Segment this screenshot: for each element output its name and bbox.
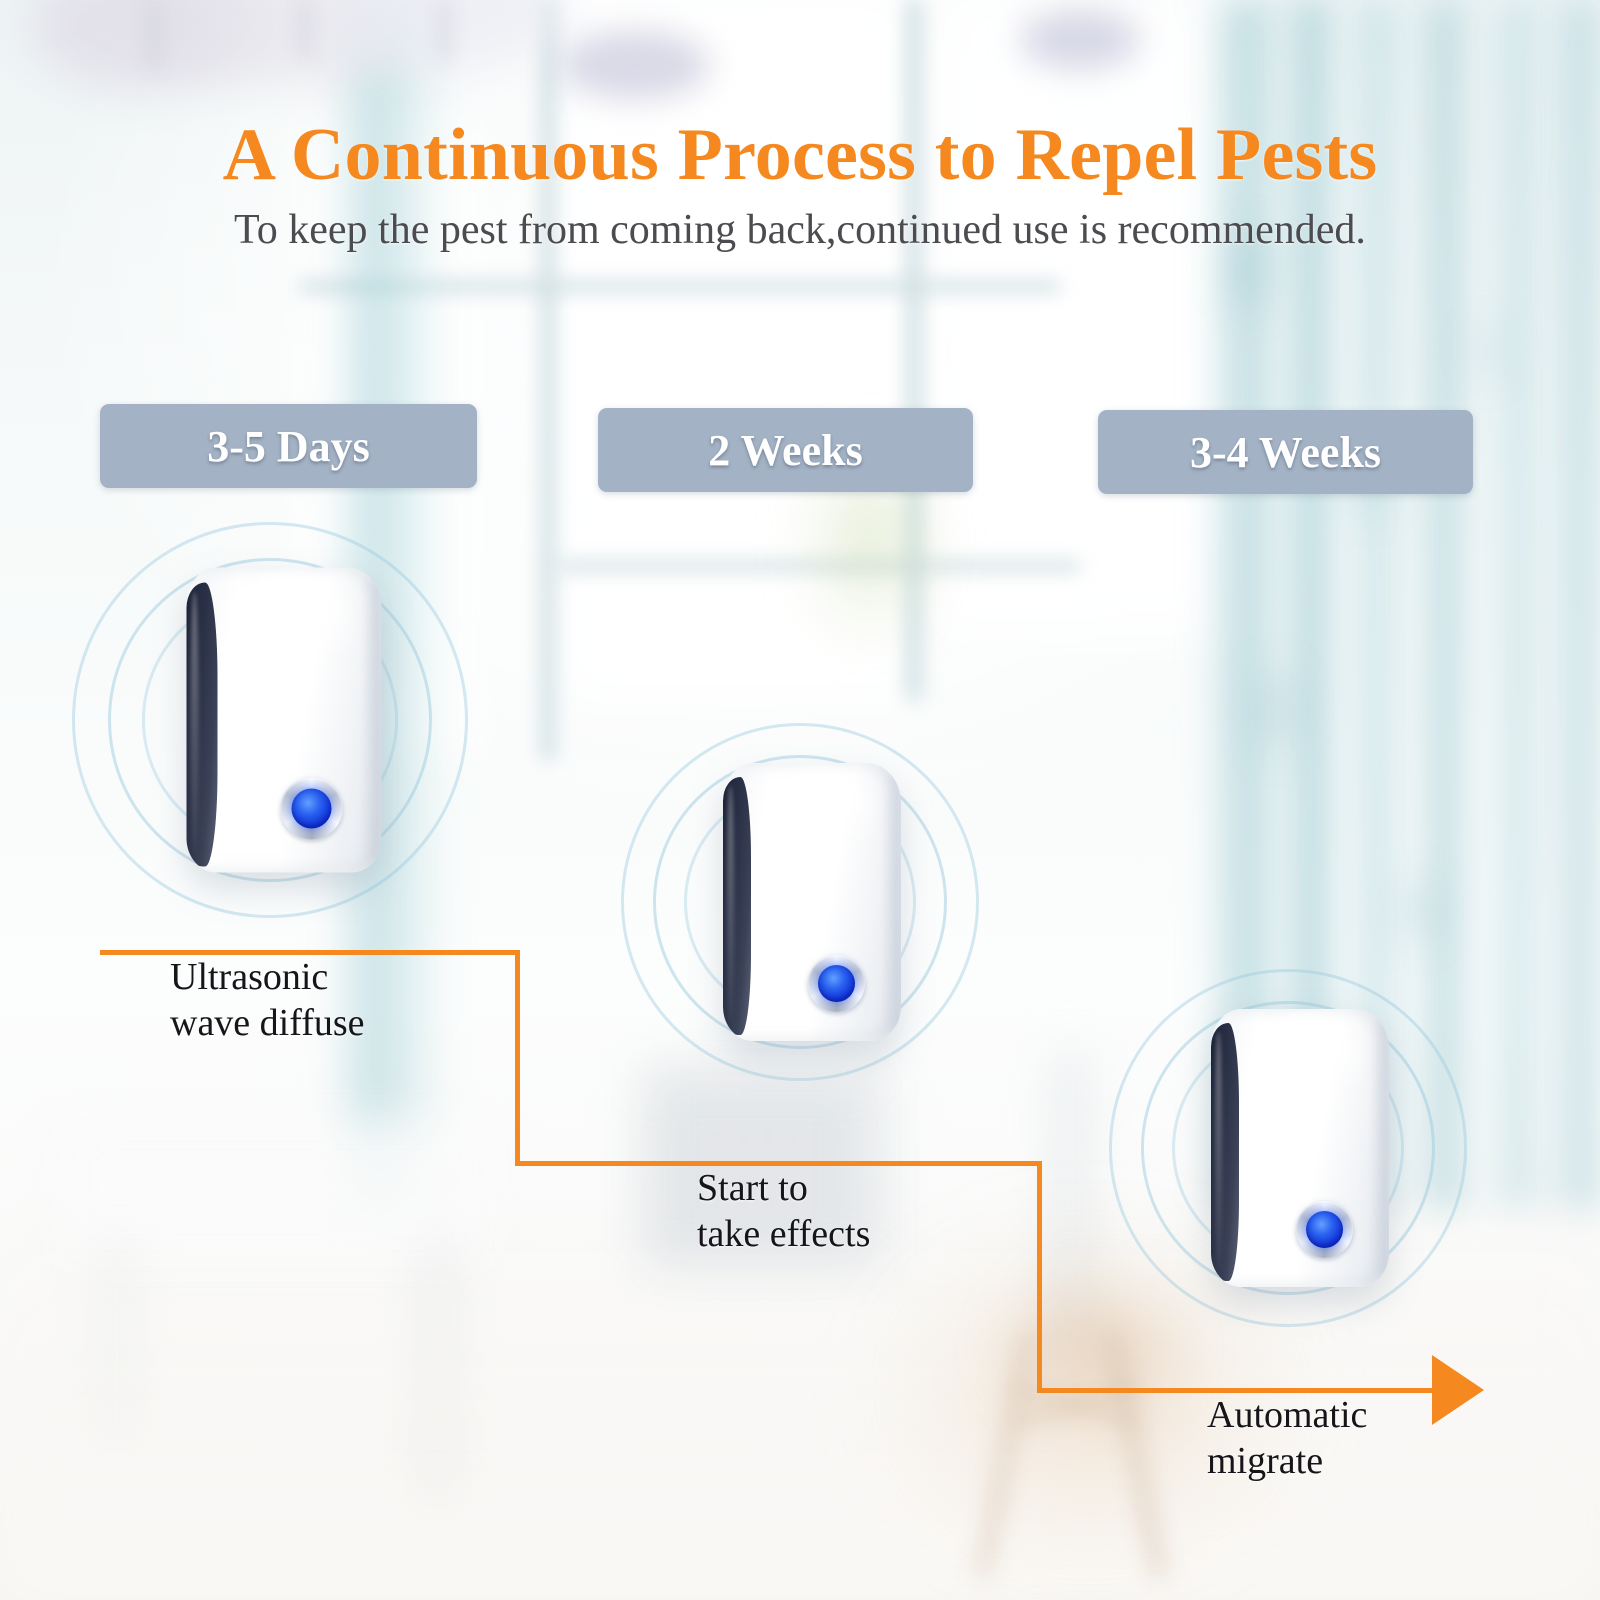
table-leg-1: [110, 1240, 123, 1430]
lamp-rod-3: [440, 0, 449, 62]
device-group-stage-3: [1108, 958, 1468, 1338]
connector-segment-2-vertical: [1037, 1161, 1042, 1390]
lamp-rod-1: [150, 0, 159, 70]
infographic-canvas: A Continuous Process to Repel Pests To k…: [0, 0, 1600, 1600]
ultrasonic-pest-repeller-icon: [187, 568, 382, 873]
led-indicator-icon: [1306, 1211, 1343, 1248]
led-indicator-ring: [1296, 1201, 1353, 1258]
lamp-rod-2: [300, 0, 309, 58]
page-subtitle: To keep the pest from coming back,contin…: [0, 206, 1600, 254]
stage-caption-3: Automatic migrate: [1207, 1392, 1367, 1485]
stage-badge-label: 3-4 Weeks: [1190, 427, 1381, 478]
table-leg-2: [430, 1240, 445, 1490]
lamp-accent-1: [560, 30, 710, 100]
connector-segment-1-vertical: [515, 950, 520, 1163]
device-group-stage-1: [70, 520, 470, 920]
stage-badge-1: 3-5 Days: [100, 404, 477, 488]
led-indicator-icon: [291, 789, 331, 829]
page-title: A Continuous Process to Repel Pests: [0, 113, 1600, 198]
stage-badge-label: 3-5 Days: [207, 421, 370, 472]
stage-badge-3: 3-4 Weeks: [1098, 410, 1473, 494]
right-arrow-icon: [1432, 1355, 1484, 1425]
led-indicator-ring: [280, 778, 342, 840]
window-pane-right: [930, 0, 1230, 640]
ultrasonic-pest-repeller-icon: [1211, 1009, 1389, 1287]
stage-caption-1: Ultrasonic wave diffuse: [170, 954, 365, 1047]
stage-badge-label: 2 Weeks: [708, 425, 862, 476]
stage-badge-2: 2 Weeks: [598, 408, 973, 492]
stage-caption-2: Start to take effects: [697, 1165, 870, 1258]
device-group-stage-2: [620, 712, 980, 1092]
led-indicator-ring: [808, 955, 865, 1012]
ultrasonic-pest-repeller-icon: [723, 763, 901, 1041]
led-indicator-icon: [818, 965, 855, 1002]
table-top: [60, 1120, 490, 1260]
lamp-accent-2: [1020, 10, 1140, 70]
